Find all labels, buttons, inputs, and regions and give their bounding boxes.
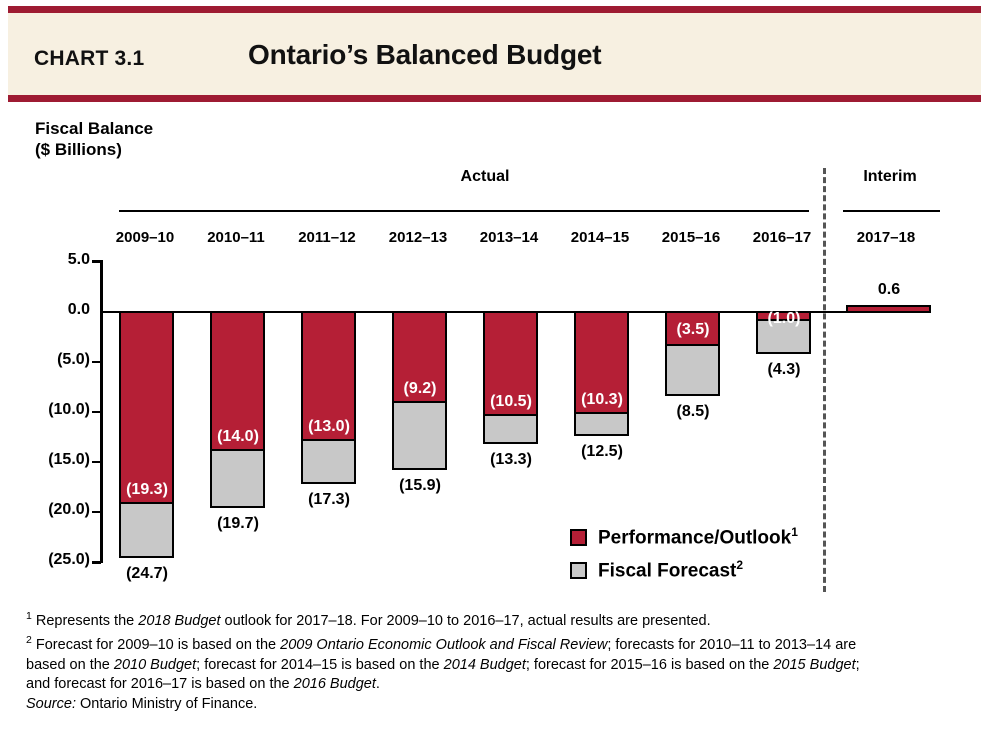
group-rule-interim [843,210,940,212]
footnote-2-line-1: 2 Forecast for 2009–10 is based on the 2… [26,631,976,655]
group-rule-actual [119,210,809,212]
legend-swatch-forecast-icon [570,562,587,579]
ytick-mark-neg10 [92,411,101,413]
bar-label-forecast-2011-12: (17.3) [289,491,369,509]
ytick-mark-neg5 [92,361,101,363]
bar-performance-2017-18[interactable] [846,305,931,313]
bar-label-performance-2016-17: (1.0) [749,310,819,328]
bar-performance-2009-10[interactable] [119,311,174,504]
chart-legend: Performance/Outlook1 Fiscal Forecast2 [570,525,798,592]
period-label-2017-18: 2017–18 [841,229,931,246]
ytick-mark-neg20 [92,511,101,513]
footnote-2-line-3: and forecast for 2016–17 is based on the… [26,675,976,695]
ytick-label-neg5: (5.0) [18,351,90,369]
period-label-2014-15: 2014–15 [555,229,645,246]
bar-label-performance-2010-11: (14.0) [203,428,273,446]
bar-label-performance-2017-18: 0.6 [849,281,929,299]
period-label-2016-17: 2016–17 [737,229,827,246]
legend-label-performance-outlook: Performance/Outlook1 [598,525,798,549]
footnotes-block: 1 Represents the 2018 Budget outlook for… [26,607,976,714]
legend-item-performance-outlook[interactable]: Performance/Outlook1 [570,525,798,549]
bar-label-performance-2014-15: (10.3) [567,391,637,409]
legend-swatch-performance-icon [570,529,587,546]
bar-label-forecast-2013-14: (13.3) [471,451,551,469]
ytick-label-5: 5.0 [18,251,90,269]
ytick-label-0: 0.0 [18,301,90,319]
group-label-actual: Actual [395,168,575,186]
ytick-label-neg25: (25.0) [18,551,90,569]
period-label-2010-11: 2010–11 [191,229,281,246]
ytick-label-neg15: (15.0) [18,451,90,469]
footnote-2-line-2: based on the 2010 Budget; forecast for 2… [26,656,976,676]
bar-label-forecast-2016-17: (4.3) [744,361,824,379]
group-label-interim: Interim [835,168,945,186]
bar-label-performance-2011-12: (13.0) [294,418,364,436]
ytick-label-neg10: (10.0) [18,401,90,419]
period-label-2009-10: 2009–10 [100,229,190,246]
y-axis-top-cap [92,260,101,263]
bar-label-performance-2012-13: (9.2) [385,380,455,398]
bar-label-forecast-2010-11: (19.7) [198,515,278,533]
bar-label-performance-2009-10: (19.3) [112,481,182,499]
period-label-2013-14: 2013–14 [464,229,554,246]
period-label-2015-16: 2015–16 [646,229,736,246]
plot-area: Actual Interim 2009–10 2010–11 2011–12 2… [0,0,989,620]
bar-label-forecast-2012-13: (15.9) [380,477,460,495]
bar-label-forecast-2014-15: (12.5) [562,443,642,461]
period-label-2011-12: 2011–12 [282,229,372,246]
legend-label-fiscal-forecast: Fiscal Forecast2 [598,558,743,582]
bar-label-performance-2013-14: (10.5) [476,393,546,411]
legend-item-fiscal-forecast[interactable]: Fiscal Forecast2 [570,558,798,582]
footnote-source: Source: Ontario Ministry of Finance. [26,695,976,715]
bar-label-forecast-2015-16: (8.5) [653,403,733,421]
ytick-mark-neg15 [92,461,101,463]
actual-interim-divider [823,168,826,592]
chart-page: CHART 3.1 Ontario’s Balanced Budget Fisc… [0,0,989,749]
footnote-1: 1 Represents the 2018 Budget outlook for… [26,607,976,631]
bar-label-forecast-2009-10: (24.7) [107,565,187,583]
bar-label-performance-2015-16: (3.5) [658,321,728,339]
period-label-2012-13: 2012–13 [373,229,463,246]
ytick-label-neg20: (20.0) [18,501,90,519]
y-axis-bottom-cap [92,561,101,564]
